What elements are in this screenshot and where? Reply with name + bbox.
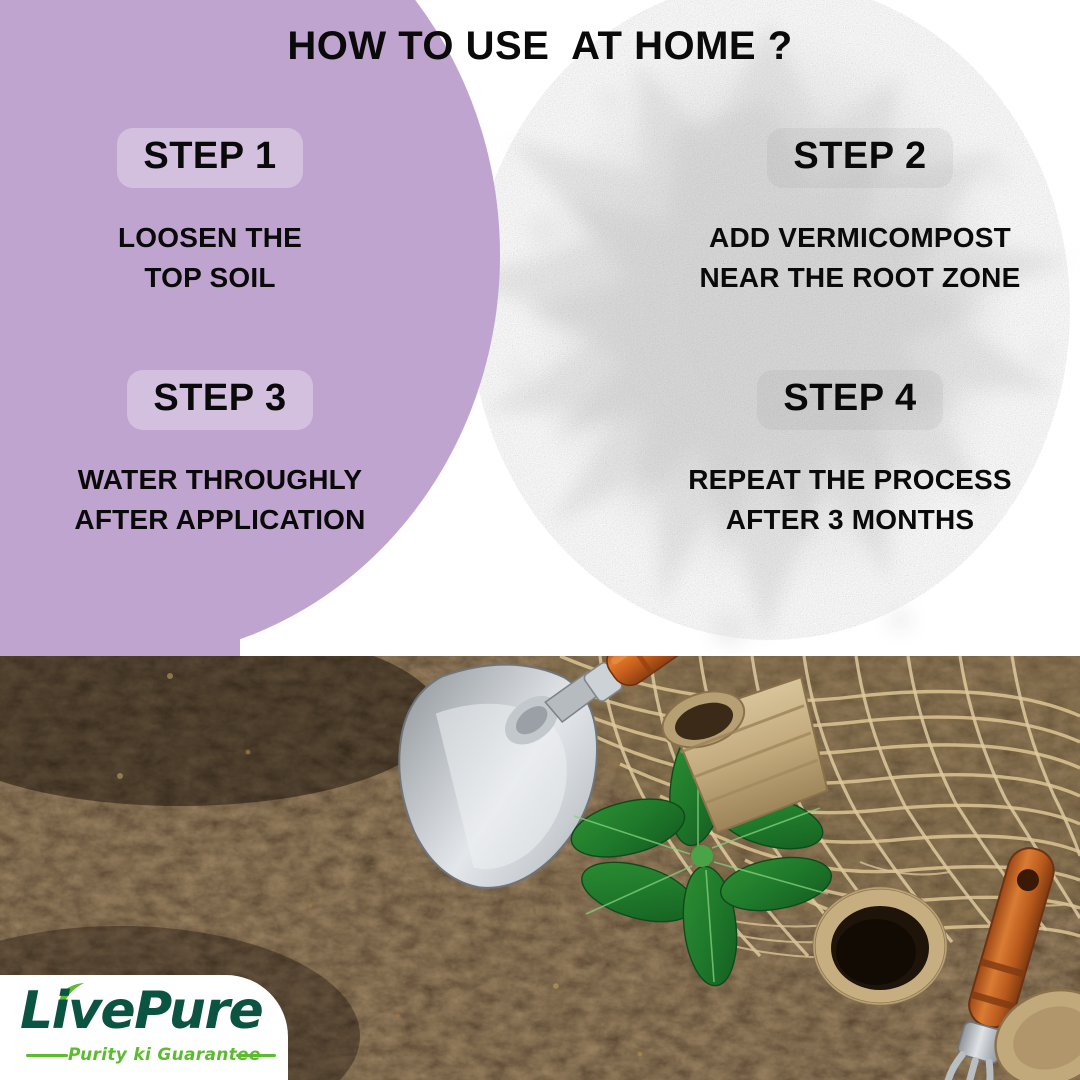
purple-blob-fill — [0, 0, 240, 656]
step-card-2: STEP 2 ADD VERMICOMPOST NEAR THE ROOT ZO… — [660, 128, 1060, 297]
brand-name: LivePure — [20, 985, 262, 1037]
poster-canvas: HOW TO USE AT HOME ? STEP 1 LOOSEN THE T… — [0, 0, 1080, 1080]
step-badge-1: STEP 1 — [117, 128, 302, 188]
brand-logo-plate: LivePure Purity ki Guarantee — [0, 975, 288, 1080]
powder-splash-graphic — [430, 0, 1080, 680]
step-card-3: STEP 3 WATER THROUGHLY AFTER APPLICATION — [20, 370, 420, 539]
page-title: HOW TO USE AT HOME ? — [0, 24, 1080, 69]
step-card-4: STEP 4 REPEAT THE PROCESS AFTER 3 MONTHS — [650, 370, 1050, 539]
step-description-1: LOOSEN THE TOP SOIL — [30, 218, 390, 298]
step-description-4: REPEAT THE PROCESS AFTER 3 MONTHS — [650, 460, 1050, 540]
brand-tagline: Purity ki Guarantee — [68, 1045, 261, 1065]
step-badge-4: STEP 4 — [757, 370, 942, 430]
step-card-1: STEP 1 LOOSEN THE TOP SOIL — [30, 128, 390, 297]
step-badge-3: STEP 3 — [127, 370, 312, 430]
tagline-rule-right — [236, 1054, 276, 1057]
step-description-3: WATER THROUGHLY AFTER APPLICATION — [20, 460, 420, 540]
brand-logo: LivePure Purity ki Guarantee — [14, 981, 276, 1077]
step-description-2: ADD VERMICOMPOST NEAR THE ROOT ZONE — [660, 218, 1060, 298]
step-badge-2: STEP 2 — [767, 128, 952, 188]
tagline-rule-left — [26, 1054, 68, 1057]
